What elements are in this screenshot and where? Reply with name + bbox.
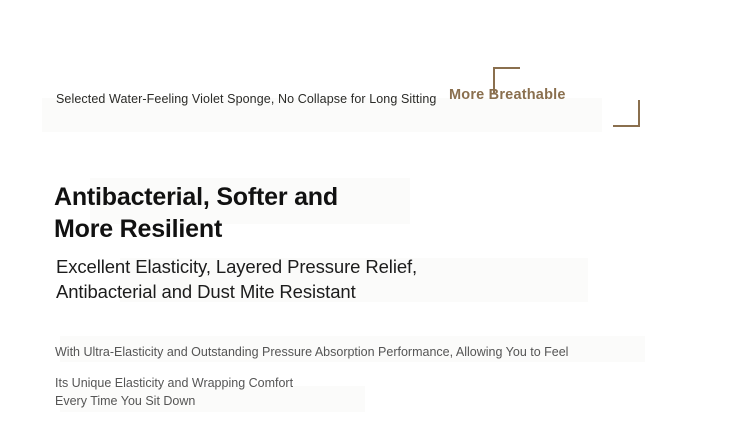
eyebrow-text: Selected Water-Feeling Violet Sponge, No…	[56, 93, 436, 106]
body-paragraph-second: Its Unique Elasticity and Wrapping Comfo…	[55, 375, 293, 411]
eyebrow-row: Selected Water-Feeling Violet Sponge, No…	[56, 60, 716, 132]
subheadline: Excellent Elasticity, Layered Pressure R…	[56, 255, 417, 304]
body-paragraph-first: With Ultra-Elasticity and Outstanding Pr…	[55, 344, 568, 361]
promo-banner: Selected Water-Feeling Violet Sponge, No…	[0, 0, 750, 432]
headline: Antibacterial, Softer and More Resilient	[54, 182, 338, 246]
more-breathable-badge: More Breathable	[429, 60, 589, 132]
more-breathable-label: More Breathable	[449, 88, 566, 103]
corner-bracket-bottom-right-icon	[613, 100, 640, 127]
